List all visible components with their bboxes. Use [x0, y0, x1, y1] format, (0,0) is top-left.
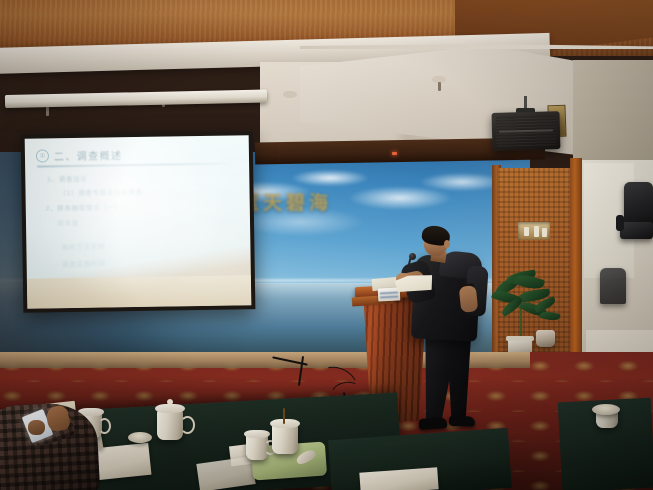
slide-title: 二、调查概述 — [54, 147, 123, 163]
microphone-head-icon — [409, 253, 416, 260]
office-chair-seat — [620, 222, 653, 239]
slide-bullet-line: 2、样本抽取情况（一） — [46, 202, 122, 212]
teacup-lid-knob — [167, 399, 173, 405]
wall-niche — [518, 222, 550, 240]
teacup-lid — [155, 404, 185, 413]
saucer — [592, 404, 620, 415]
screen-roller-housing[interactable] — [5, 90, 267, 108]
plant-pot-rim — [506, 336, 534, 341]
niche-object — [524, 227, 529, 236]
slide-bullet-line: · 抽样方法说明 — [56, 242, 105, 252]
office-chair — [600, 268, 626, 304]
ceiling-mount-plate — [283, 91, 297, 98]
ceiling-hook-icon — [438, 82, 441, 91]
presenter-shoe — [419, 417, 448, 430]
ceiling-hook-icon — [46, 107, 49, 116]
saucer — [128, 432, 152, 443]
slide-number-badge-icon: ① — [36, 149, 49, 162]
teacup — [272, 424, 298, 454]
indicator-led-icon — [392, 152, 397, 155]
slide-footer-band — [27, 275, 251, 309]
office-chair — [624, 182, 653, 226]
slide-bullet-line: （1）调查专题及指标体系 — [59, 187, 143, 197]
screen-surface: ① 二、调查概述 1、调查设计 （1）调查专题及指标体系 2、样本抽取情况（一）… — [25, 135, 252, 308]
slide-title-underline — [37, 162, 233, 167]
niche-object — [534, 226, 539, 237]
nameplate-text — [380, 291, 398, 299]
slide-bullet-line: · 样本量 — [52, 218, 79, 227]
slide-bullet-line: 1、调查设计 — [47, 174, 87, 184]
teacup-handle — [180, 416, 195, 434]
teacup-handle — [98, 418, 111, 434]
niche-object — [542, 228, 547, 237]
right-side-wall — [573, 60, 653, 165]
presenter-ear — [444, 240, 450, 248]
presenter-right-forearm — [459, 285, 479, 313]
podium-nameplate — [378, 287, 401, 301]
slide-bullet-line: · 调查实施时间 — [57, 259, 106, 269]
chair-armrest — [616, 215, 624, 231]
ceiling-speaker — [492, 111, 561, 151]
stirrer-stick — [283, 408, 285, 424]
projection-screen: ① 二、调查概述 1、调查设计 （1）调查专题及指标体系 2、样本抽取情况（一）… — [21, 131, 256, 313]
teacup-lid — [270, 419, 300, 428]
plant-pot — [536, 330, 555, 347]
presenter-shoe — [449, 415, 475, 426]
conference-room-photo: 蓝天碧海 ① 二、调查概述 1、 — [0, 0, 653, 490]
slide-title-row: ① 二、调查概述 — [36, 147, 123, 163]
teacup-lid — [244, 430, 270, 438]
foreground-attendee-hand — [28, 420, 45, 435]
